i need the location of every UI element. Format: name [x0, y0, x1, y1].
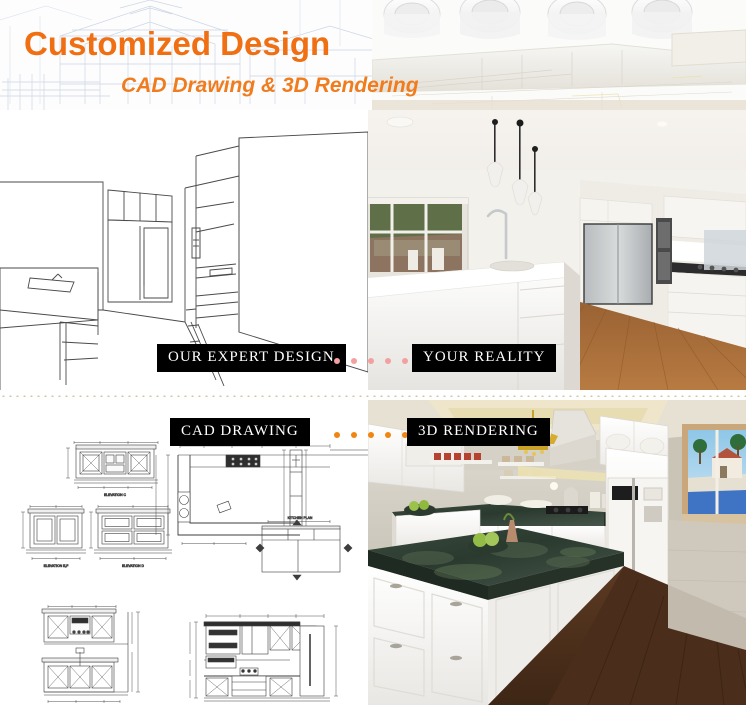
product-banner-page: Customized Design CAD Drawing & 3D Rende… [0, 0, 746, 705]
caption-cad-drawing: CAD DRAWING [170, 418, 310, 446]
dot [351, 432, 357, 438]
caption-your-reality: YOUR REALITY [412, 344, 556, 372]
caption-our-expert-design: OUR EXPERT DESIGN [157, 344, 346, 372]
section-divider [0, 392, 746, 397]
svg-text:ELEVATION D: ELEVATION D [122, 564, 144, 568]
svg-text:KITCHEN PLAN: KITCHEN PLAN [288, 516, 313, 520]
dot [368, 432, 374, 438]
dot [385, 358, 391, 364]
dot [334, 432, 340, 438]
dot [368, 358, 374, 364]
dot [402, 358, 408, 364]
banner-header: Customized Design CAD Drawing & 3D Rende… [0, 0, 746, 110]
page-title: Customized Design [24, 27, 330, 60]
dot [385, 432, 391, 438]
caption-3d-rendering: 3D RENDERING [407, 418, 550, 446]
middle-section: OUR EXPERT DESIGN YOUR REALITY [0, 110, 746, 390]
page-subtitle: CAD Drawing & 3D Rendering [121, 74, 419, 98]
svg-text:ELEVATION E,F: ELEVATION E,F [44, 564, 69, 568]
dot [351, 358, 357, 364]
dot [334, 358, 340, 364]
rolled-blueprints-photo [372, 0, 746, 110]
svg-text:ELEVATION C: ELEVATION C [104, 493, 126, 497]
bottom-section: ELEVATION C [0, 400, 746, 705]
